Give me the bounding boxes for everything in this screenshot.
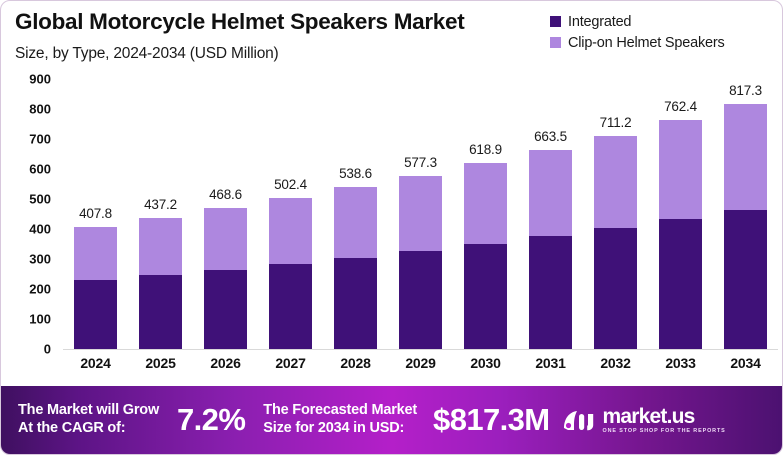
- bar-value-label: 817.3: [713, 83, 778, 98]
- bar-stack: [74, 227, 117, 349]
- legend-item-integrated[interactable]: Integrated: [550, 11, 776, 32]
- bar-stack: [204, 208, 247, 349]
- bar-segment-integrated[interactable]: [529, 236, 572, 349]
- page-title: Global Motorcycle Helmet Speakers Market: [15, 9, 464, 35]
- bar-column[interactable]: 502.4: [258, 79, 323, 349]
- bar-value-label: 437.2: [128, 197, 193, 212]
- y-axis-tick: 800: [7, 102, 51, 117]
- bar-stack: [334, 187, 377, 349]
- bar-segment-clip-on[interactable]: [334, 187, 377, 257]
- chart-header: Global Motorcycle Helmet Speakers Market…: [1, 1, 783, 79]
- bar-value-label: 618.9: [453, 142, 518, 157]
- bar-segment-integrated[interactable]: [204, 270, 247, 349]
- x-axis-tick: 2031: [518, 355, 583, 371]
- bar-column[interactable]: 817.3: [713, 79, 778, 349]
- bar-column[interactable]: 762.4: [648, 79, 713, 349]
- bar-segment-clip-on[interactable]: [139, 218, 182, 275]
- bar-segment-clip-on[interactable]: [269, 198, 312, 264]
- cagr-caption-line2: At the CAGR of:: [18, 420, 159, 438]
- bar-segment-clip-on[interactable]: [74, 227, 117, 281]
- x-axis-tick: 2029: [388, 355, 453, 371]
- bar-value-label: 577.3: [388, 155, 453, 170]
- bar-segment-integrated[interactable]: [399, 251, 442, 349]
- bar-stack: [139, 218, 182, 349]
- x-axis-tick: 2028: [323, 355, 388, 371]
- forecast-caption-line2: Size for 2034 in USD:: [263, 420, 417, 438]
- bar-segment-integrated[interactable]: [139, 275, 182, 349]
- chart-card: Global Motorcycle Helmet Speakers Market…: [0, 0, 783, 455]
- bar-column[interactable]: 577.3: [388, 79, 453, 349]
- bar-segment-clip-on[interactable]: [594, 136, 637, 228]
- bar-segment-integrated[interactable]: [74, 280, 117, 349]
- bar-segment-integrated[interactable]: [334, 258, 377, 349]
- bar-value-label: 538.6: [323, 166, 388, 181]
- brand-tagline: ONE STOP SHOP FOR THE REPORTS: [603, 429, 726, 434]
- y-axis-tick: 300: [7, 252, 51, 267]
- x-axis-tick: 2032: [583, 355, 648, 371]
- cagr-caption-line1: The Market will Grow: [18, 402, 159, 420]
- y-axis-tick: 200: [7, 282, 51, 297]
- x-axis-tick: 2033: [648, 355, 713, 371]
- chart-legend: Integrated Clip-on Helmet Speakers: [550, 11, 776, 53]
- cagr-caption: The Market will Grow At the CAGR of:: [18, 402, 159, 437]
- bar-column[interactable]: 468.6: [193, 79, 258, 349]
- y-axis-tick: 100: [7, 312, 51, 327]
- chart-plot-area: 9008007006005004003002001000 407.8437.24…: [1, 79, 783, 386]
- chart-subtitle: Size, by Type, 2024-2034 (USD Million): [15, 45, 279, 63]
- bar-column[interactable]: 437.2: [128, 79, 193, 349]
- bar-segment-clip-on[interactable]: [724, 104, 767, 210]
- bar-stack: [724, 104, 767, 349]
- bar-stack: [529, 150, 572, 349]
- bar-segment-clip-on[interactable]: [399, 176, 442, 251]
- bar-segment-clip-on[interactable]: [464, 163, 507, 244]
- bar-column[interactable]: 538.6: [323, 79, 388, 349]
- x-axis-tick: 2026: [193, 355, 258, 371]
- bar-column[interactable]: 663.5: [518, 79, 583, 349]
- bar-stack: [269, 198, 312, 349]
- brand-name: market.us: [603, 406, 726, 427]
- bar-stack: [659, 120, 702, 349]
- bar-value-label: 762.4: [648, 99, 713, 114]
- x-axis-tick: 2024: [63, 355, 128, 371]
- bar-series-group: 407.8437.2468.6502.4538.6577.3618.9663.5…: [63, 79, 778, 349]
- market-us-logo-icon: [562, 408, 596, 433]
- x-axis-tick: 2030: [453, 355, 518, 371]
- bar-value-label: 468.6: [193, 187, 258, 202]
- bar-segment-integrated[interactable]: [269, 264, 312, 349]
- bar-segment-clip-on[interactable]: [659, 120, 702, 219]
- y-axis-tick: 600: [7, 162, 51, 177]
- bar-column[interactable]: 618.9: [453, 79, 518, 349]
- bar-segment-integrated[interactable]: [659, 219, 702, 349]
- bar-stack: [399, 176, 442, 349]
- x-axis-line: [63, 349, 778, 350]
- forecast-caption: The Forecasted Market Size for 2034 in U…: [263, 402, 417, 437]
- y-axis-tick: 400: [7, 222, 51, 237]
- x-axis-tick: 2027: [258, 355, 323, 371]
- brand-text: market.us ONE STOP SHOP FOR THE REPORTS: [603, 406, 726, 434]
- bar-stack: [594, 136, 637, 349]
- forecast-caption-line1: The Forecasted Market: [263, 402, 417, 420]
- forecast-value: $817.3M: [433, 402, 549, 438]
- bar-segment-clip-on[interactable]: [204, 208, 247, 269]
- bar-segment-integrated[interactable]: [724, 210, 767, 349]
- legend-label-clip-on: Clip-on Helmet Speakers: [568, 35, 725, 51]
- brand-logo[interactable]: market.us ONE STOP SHOP FOR THE REPORTS: [562, 406, 726, 434]
- cagr-value: 7.2%: [177, 402, 245, 438]
- legend-swatch-integrated: [550, 16, 561, 27]
- bar-segment-integrated[interactable]: [594, 228, 637, 349]
- bar-segment-integrated[interactable]: [464, 244, 507, 349]
- legend-label-integrated: Integrated: [568, 14, 631, 30]
- legend-swatch-clip-on: [550, 37, 561, 48]
- bar-segment-clip-on[interactable]: [529, 150, 572, 236]
- bar-column[interactable]: 407.8: [63, 79, 128, 349]
- bar-value-label: 502.4: [258, 177, 323, 192]
- bar-value-label: 663.5: [518, 129, 583, 144]
- y-axis-tick: 500: [7, 192, 51, 207]
- summary-footer: The Market will Grow At the CAGR of: 7.2…: [1, 386, 783, 454]
- bar-value-label: 711.2: [583, 115, 648, 130]
- bar-value-label: 407.8: [63, 206, 128, 221]
- y-axis-tick: 0: [7, 342, 51, 357]
- bar-stack: [464, 163, 507, 349]
- bar-column[interactable]: 711.2: [583, 79, 648, 349]
- y-axis-tick: 700: [7, 132, 51, 147]
- x-axis-tick: 2025: [128, 355, 193, 371]
- x-axis-tick: 2034: [713, 355, 778, 371]
- y-axis-tick: 900: [7, 72, 51, 87]
- legend-item-clip-on[interactable]: Clip-on Helmet Speakers: [550, 32, 776, 53]
